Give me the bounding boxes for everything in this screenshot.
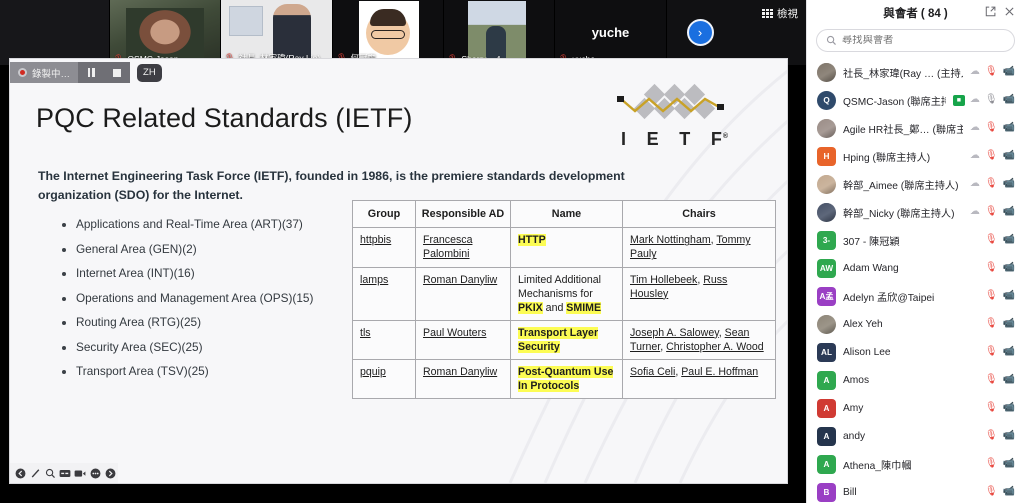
participant-row[interactable]: ALAlison Lee🎙📹 (807, 338, 1024, 366)
participant-name: Agile HR社長_鄭… (聯席主持人) (843, 121, 963, 136)
mic-on-icon[interactable]: 🎙 (985, 95, 998, 105)
avatar-initials: A (817, 399, 836, 418)
participant-name: Hping (聯席主持人) (843, 149, 963, 164)
participant-row[interactable]: 幹部_Nicky (聯席主持人)☁🎙📹 (807, 198, 1024, 226)
mic-muted-icon[interactable]: 🎙 (985, 403, 998, 413)
participant-row[interactable]: Alex Yeh🎙📹 (807, 310, 1024, 338)
standards-table-wrapper: Group Responsible AD Name Chairs httpbis… (352, 200, 776, 399)
participant-controls: 🎙📹 (985, 347, 1015, 357)
participant-controls: 🎙📹 (985, 459, 1015, 469)
view-button[interactable]: 檢視 (762, 6, 798, 21)
camera-off-icon[interactable]: 📹 (1003, 375, 1015, 385)
column-header-name: Name (511, 201, 623, 228)
participant-row[interactable]: 3-307 - 陳冠穎🎙📹 (807, 226, 1024, 254)
table-row: lampsRoman DanyliwLimited Additional Mec… (353, 267, 776, 320)
camera-off-icon[interactable]: 📹 (1003, 235, 1015, 245)
video-tile[interactable]: 🎙 社長_林家瑋(Ray Lin) (221, 0, 333, 65)
participant-controls: ☁🎙📹 (970, 207, 1015, 217)
participant-controls: 🎙📹 (985, 487, 1015, 497)
grid-icon (762, 9, 773, 18)
video-icon[interactable] (73, 465, 87, 481)
video-tile[interactable]: 🎙 Sherry _ 4 (444, 0, 555, 65)
camera-off-icon[interactable]: 📹 (1003, 487, 1015, 497)
participant-name: 幹部_Aimee (聯席主持人) (843, 177, 963, 192)
participant-row[interactable]: BBill🎙📹 (807, 478, 1024, 503)
participant-name: 社長_林家瑋(Ray … (主持人, 我) (843, 65, 963, 80)
cell-group: pquip (353, 359, 416, 398)
cell-chairs: Sofia Celi, Paul E. Hoffman (623, 359, 776, 398)
camera-off-icon[interactable]: 📹 (1003, 123, 1015, 133)
bullet-dot-icon (62, 297, 66, 301)
avatar-photo (817, 315, 836, 334)
table-row: tlsPaul WoutersTransport Layer SecurityJ… (353, 320, 776, 359)
next-page-button[interactable]: › (687, 19, 714, 46)
bullet-dot-icon (62, 248, 66, 252)
bullet-dot-icon (62, 272, 66, 276)
participant-controls: 🎙📹 (985, 291, 1015, 301)
cell-name: Limited Additional Mechanisms for PKIX a… (511, 267, 623, 320)
mic-muted-icon[interactable]: 🎙 (985, 207, 998, 217)
avatar-initials: H (817, 147, 836, 166)
participant-controls: 🎙📹 (985, 319, 1015, 329)
participant-row[interactable]: 社長_林家瑋(Ray … (主持人, 我)☁🎙📹 (807, 58, 1024, 86)
page-title: PQC Related Standards (IETF) (36, 103, 412, 134)
participant-name: Amos (843, 375, 978, 386)
ietf-wordmark: I E T F® (611, 129, 739, 150)
bullet-dot-icon (62, 370, 66, 374)
participant-name: Amy (843, 403, 978, 414)
video-filmstrip: 🎙 QSMC-Jason 🎙 社長_林家瑋(Ray Lin) 🎙 何冠霈 (0, 0, 806, 65)
avatar-initials: B (817, 483, 836, 502)
list-item: Security Area (SEC)(25) (62, 340, 362, 354)
camera-off-icon[interactable]: 📹 (1003, 67, 1015, 77)
subtitle-icon[interactable] (58, 465, 72, 481)
participant-name: 幹部_Nicky (聯席主持人) (843, 205, 963, 220)
mic-muted-icon[interactable]: 🎙 (985, 151, 998, 161)
annotation-toolbar (10, 463, 118, 483)
camera-off-icon[interactable]: 📹 (1003, 319, 1015, 329)
camera-off-icon[interactable]: 📹 (1003, 459, 1015, 469)
participant-row[interactable]: AAmos🎙📹 (807, 366, 1024, 394)
participant-row[interactable]: QQSMC-Jason (聯席主持人)■☁🎙📹 (807, 86, 1024, 114)
table-row: pquipRoman DanyliwPost-Quantum Use In Pr… (353, 359, 776, 398)
ietf-letter: I (621, 129, 627, 150)
recording-status-label: 錄製中… (32, 66, 70, 80)
mic-muted-icon[interactable]: 🎙 (985, 235, 998, 245)
ietf-logo: I E T F® (611, 83, 739, 150)
recording-status: 錄製中… (10, 62, 78, 83)
participant-row[interactable]: HHping (聯席主持人)☁🎙📹 (807, 142, 1024, 170)
ietf-letter-last: F® (711, 129, 729, 150)
filmstrip-next-wrap: › (667, 0, 733, 65)
list-item-label: Security Area (SEC)(25) (76, 340, 203, 354)
table-body: httpbisFrancesca PalombiniHTTPMark Notti… (353, 228, 776, 399)
reaction-icon[interactable]: ☁ (970, 123, 980, 133)
mic-muted-icon[interactable]: 🎙 (985, 179, 998, 189)
ietf-letter: E (647, 129, 660, 150)
participants-panel: 與會者 ( 84 ) 社長_林家瑋(Ray … (主持人, 我)☁🎙📹QQSMC… (806, 0, 1024, 503)
participant-row[interactable]: AAmy🎙📹 (807, 394, 1024, 422)
reaction-icon[interactable]: ☁ (970, 67, 980, 77)
forward-arrow-icon[interactable] (103, 465, 117, 481)
participant-row[interactable]: Agile HR社長_鄭… (聯席主持人)☁🎙📹 (807, 114, 1024, 142)
list-item-label: Internet Area (INT)(16) (76, 266, 195, 280)
camera-off-icon[interactable]: 📹 (1003, 151, 1015, 161)
cell-chairs: Tim Hollebeek, Russ Housley (623, 267, 776, 320)
cell-responsible-ad: Francesca Palombini (416, 228, 511, 267)
cell-responsible-ad: Paul Wouters (416, 320, 511, 359)
list-item: Routing Area (RTG)(25) (62, 315, 362, 329)
participant-name: Bill (843, 487, 978, 498)
search-box[interactable] (816, 29, 1015, 52)
bullet-dot-icon (62, 321, 66, 325)
reaction-icon[interactable]: ☁ (970, 207, 980, 217)
registered-mark: ® (723, 133, 729, 140)
participant-list[interactable]: 社長_林家瑋(Ray … (主持人, 我)☁🎙📹QQSMC-Jason (聯席主… (807, 58, 1024, 503)
participant-name: Adelyn 孟欣@Taipei (843, 289, 978, 304)
participant-name: Adam Wang (843, 263, 978, 274)
mic-muted-icon[interactable]: 🎙 (985, 291, 998, 301)
shared-screen-slide[interactable]: 錄製中… ZH PQC Related Standards (IETF) (10, 59, 787, 483)
avatar-initials: AW (817, 259, 836, 278)
participant-controls: 🎙📹 (985, 431, 1015, 441)
slide-bullet-list: Applications and Real-Time Area (ART)(37… (62, 217, 362, 389)
cell-group: lamps (353, 267, 416, 320)
magnifier-icon[interactable] (43, 465, 57, 481)
participant-name: Alison Lee (843, 347, 978, 358)
list-item-label: General Area (GEN)(2) (76, 242, 197, 256)
cell-name: Transport Layer Security (511, 320, 623, 359)
view-button-label: 檢視 (777, 6, 798, 21)
avatar-initials: A孟 (817, 287, 836, 306)
list-item: Transport Area (TSV)(25) (62, 364, 362, 378)
mic-muted-icon[interactable]: 🎙 (985, 347, 998, 357)
mic-muted-icon[interactable]: 🎙 (985, 319, 998, 329)
cell-responsible-ad: Roman Danyliw (416, 267, 511, 320)
ietf-diamond-icon (611, 83, 739, 129)
avatar-initials: A (817, 427, 836, 446)
video-tile-spacer (0, 0, 110, 65)
participant-row[interactable]: 幹部_Aimee (聯席主持人)☁🎙📹 (807, 170, 1024, 198)
avatar-initials: A (817, 371, 836, 390)
ietf-letter: T (679, 129, 691, 150)
panel-header: 與會者 ( 84 ) (807, 0, 1024, 26)
cell-name: Post-Quantum Use In Protocols (511, 359, 623, 398)
panel-title: 與會者 ( 84 ) (883, 5, 948, 21)
reaction-icon[interactable]: ☁ (970, 179, 980, 189)
close-icon[interactable] (1004, 6, 1015, 17)
mic-muted-icon[interactable]: 🎙 (985, 123, 998, 133)
avatar-initials: 3- (817, 231, 836, 250)
participant-row[interactable]: AAthena_陳巾幗🎙📹 (807, 450, 1024, 478)
avatar-photo (817, 119, 836, 138)
mic-muted-icon[interactable]: 🎙 (985, 459, 998, 469)
video-tile[interactable]: yuche 🎙 yuche (555, 0, 667, 65)
list-item: Internet Area (INT)(16) (62, 266, 362, 280)
participant-controls: 🎙📹 (985, 403, 1015, 413)
participant-name: Alex Yeh (843, 319, 978, 330)
camera-off-icon[interactable]: 📹 (1003, 347, 1015, 357)
recording-bar: 錄製中… ZH (10, 62, 162, 83)
language-button[interactable]: ZH (137, 64, 162, 82)
search-wrapper (807, 26, 1024, 58)
screen-share-badge: ■ (953, 95, 965, 106)
participant-controls: 🎙📹 (985, 375, 1015, 385)
list-item-label: Transport Area (TSV)(25) (76, 364, 209, 378)
camera-off-icon[interactable]: 📹 (1003, 179, 1015, 189)
camera-off-icon[interactable]: 📹 (1003, 263, 1015, 273)
reaction-icon[interactable]: ☁ (970, 95, 980, 105)
table-header-row: Group Responsible AD Name Chairs (353, 201, 776, 228)
cell-group: tls (353, 320, 416, 359)
search-input[interactable] (842, 35, 1005, 46)
list-item: General Area (GEN)(2) (62, 242, 362, 256)
more-icon[interactable] (88, 465, 102, 481)
participant-row[interactable]: Aandy🎙📹 (807, 422, 1024, 450)
participant-name: Athena_陳巾幗 (843, 457, 978, 472)
camera-on-icon[interactable]: 📹 (1003, 95, 1015, 105)
participant-controls: ☁🎙📹 (970, 67, 1015, 77)
avatar-photo (817, 203, 836, 222)
back-arrow-icon[interactable] (13, 465, 27, 481)
participant-name: QSMC-Jason (聯席主持人) (843, 93, 946, 108)
pop-out-icon[interactable] (985, 6, 996, 17)
participant-row[interactable]: AWAdam Wang🎙📹 (807, 254, 1024, 282)
list-item: Operations and Management Area (OPS)(15) (62, 291, 362, 305)
zoom-meeting-window: 🎙 QSMC-Jason 🎙 社長_林家瑋(Ray Lin) 🎙 何冠霈 (0, 0, 1024, 503)
avatar-initials: AL (817, 343, 836, 362)
column-header-chairs: Chairs (623, 201, 776, 228)
stop-recording-button[interactable] (104, 62, 130, 83)
avatar-initials: A (817, 455, 836, 474)
record-dot-icon (18, 68, 27, 77)
participant-controls: 🎙📹 (985, 235, 1015, 245)
list-item-label: Operations and Management Area (OPS)(15) (76, 291, 313, 305)
camera-off-icon[interactable]: 📹 (1003, 431, 1015, 441)
camera-off-icon[interactable]: 📹 (1003, 291, 1015, 301)
pen-icon[interactable] (28, 465, 42, 481)
standards-table: Group Responsible AD Name Chairs httpbis… (352, 200, 776, 399)
cell-chairs: Mark Nottingham, Tommy Pauly (623, 228, 776, 267)
stop-icon (113, 69, 121, 77)
participant-row[interactable]: A孟Adelyn 孟欣@Taipei🎙📹 (807, 282, 1024, 310)
video-tile[interactable]: 🎙 QSMC-Jason (110, 0, 221, 65)
list-item: Applications and Real-Time Area (ART)(37… (62, 217, 362, 231)
camera-off-icon[interactable]: 📹 (1003, 403, 1015, 413)
list-item-label: Applications and Real-Time Area (ART)(37… (76, 217, 303, 231)
mic-muted-icon[interactable]: 🎙 (985, 487, 998, 497)
column-header-group: Group (353, 201, 416, 228)
participant-controls: ☁🎙📹 (970, 179, 1015, 189)
table-row: httpbisFrancesca PalombiniHTTPMark Notti… (353, 228, 776, 267)
avatar-photo (817, 63, 836, 82)
search-icon (826, 35, 837, 46)
pause-icon (88, 68, 95, 77)
camera-off-icon[interactable]: 📹 (1003, 207, 1015, 217)
participant-controls: 🎙📹 (985, 263, 1015, 273)
avatar-face-icon (366, 11, 410, 55)
reaction-icon[interactable]: ☁ (970, 151, 980, 161)
cell-chairs: Joseph A. Salowey, Sean Turner, Christop… (623, 320, 776, 359)
mic-muted-icon[interactable]: 🎙 (985, 431, 998, 441)
avatar-initials: Q (817, 91, 836, 110)
participant-controls: ☁🎙📹 (970, 123, 1015, 133)
bullet-dot-icon (62, 346, 66, 350)
list-item-label: Routing Area (RTG)(25) (76, 315, 201, 329)
participant-name: andy (843, 431, 978, 442)
pause-recording-button[interactable] (78, 62, 104, 83)
mic-muted-icon[interactable]: 🎙 (985, 67, 998, 77)
cell-name: HTTP (511, 228, 623, 267)
participant-controls: ■☁🎙📹 (953, 95, 1015, 106)
column-header-ad: Responsible AD (416, 201, 511, 228)
participant-name: 307 - 陳冠穎 (843, 233, 978, 248)
mic-muted-icon[interactable]: 🎙 (985, 263, 998, 273)
cell-responsible-ad: Roman Danyliw (416, 359, 511, 398)
cell-group: httpbis (353, 228, 416, 267)
participant-controls: ☁🎙📹 (970, 151, 1015, 161)
mic-muted-icon[interactable]: 🎙 (985, 375, 998, 385)
video-tile[interactable]: 🎙 何冠霈 (333, 0, 444, 65)
bullet-dot-icon (62, 223, 66, 227)
avatar-photo (817, 175, 836, 194)
